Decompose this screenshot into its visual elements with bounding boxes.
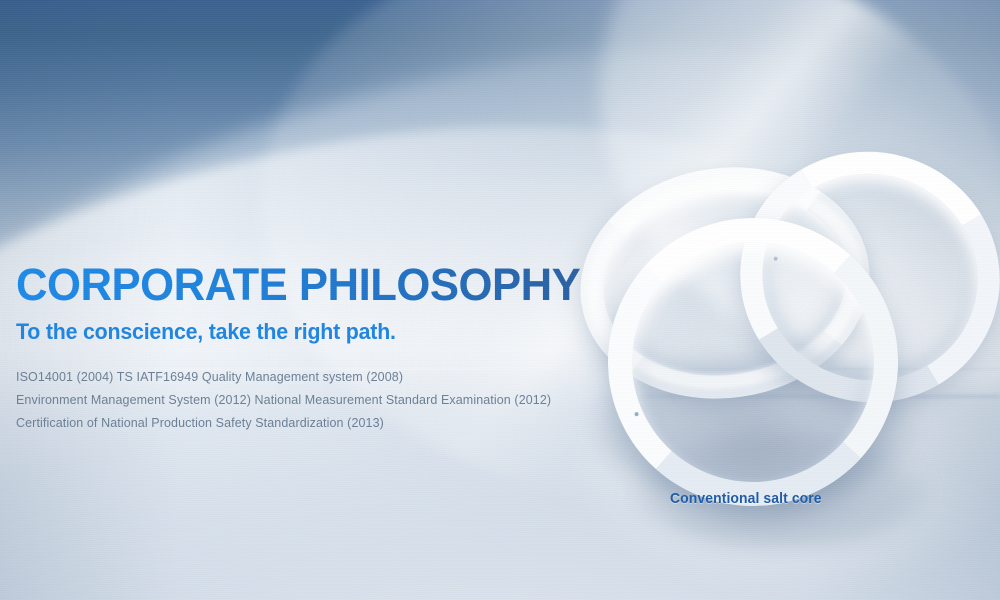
corporate-philosophy-banner: CORPORATE PHILOSOPHY To the conscience, … [0, 0, 1000, 600]
product-caption: Conventional salt core [670, 490, 822, 507]
certification-line: ISO14001 (2004) TS IATF16949 Quality Man… [16, 366, 656, 389]
certification-line: Certification of National Production Saf… [16, 412, 656, 435]
copy-block: CORPORATE PHILOSOPHY To the conscience, … [16, 262, 656, 435]
page-subtitle: To the conscience, take the right path. [16, 319, 637, 345]
page-title: CORPORATE PHILOSOPHY [16, 262, 637, 308]
certification-line: Environment Management System (2012) Nat… [16, 389, 656, 412]
certification-list: ISO14001 (2004) TS IATF16949 Quality Man… [16, 366, 656, 435]
